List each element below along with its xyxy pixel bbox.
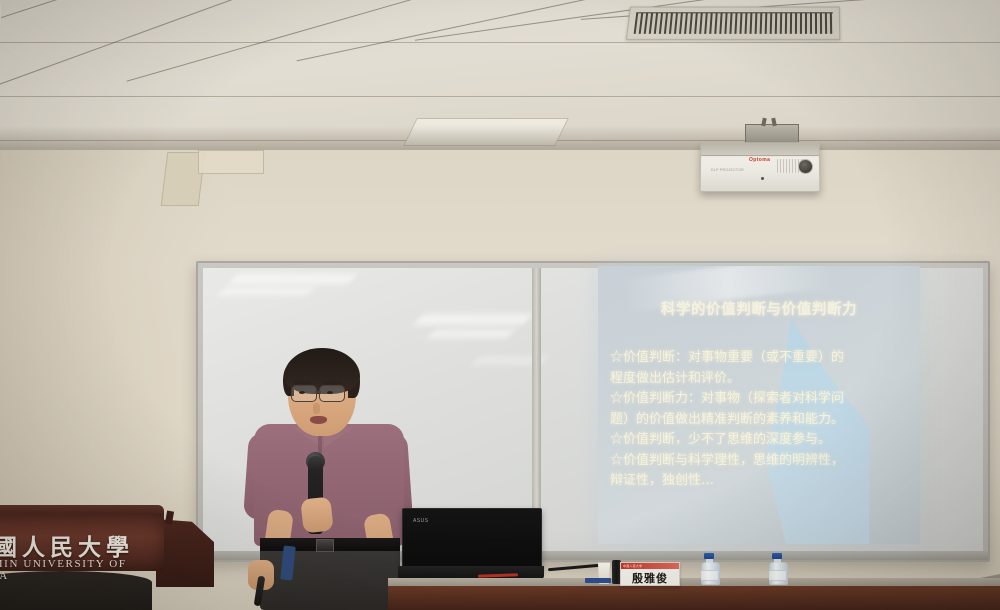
slide-body: ☆价值判断：对事物重要（或不重要）的 程度做出估计和评价。 ☆价值判断力：对事物…: [610, 348, 914, 492]
laptop: ASUS: [398, 508, 544, 580]
front-table: [388, 586, 1000, 610]
projector-lens-icon: [798, 159, 813, 174]
air-vent-icon: [626, 7, 841, 40]
wall-paint-peel: [198, 150, 264, 174]
podium-university-name-en: RENMIN UNIVERSITY OF CHINA: [0, 558, 164, 582]
presenter: [240, 348, 420, 610]
projector-brand-label: Optoma: [749, 157, 770, 163]
ceiling: [0, 0, 1000, 152]
lectern-podium: 中國人民大學 RENMIN UNIVERSITY OF CHINA: [0, 505, 188, 610]
podium-university-name-cn: 中國人民大學: [0, 528, 134, 562]
laptop-screen: ASUS: [402, 508, 542, 572]
bottle-cap-icon: [772, 553, 782, 559]
lecture-hall-scene: Optoma DLP PROJECTOR 科学的价值判断与价值判断力 ☆价值判断…: [0, 0, 1000, 610]
slide-line: ☆价值判断与科学理性，思维的明辨性，: [610, 451, 914, 472]
slide-line: 辩证性，独创性…: [610, 471, 914, 492]
slide-line: ☆价值判断：对事物重要（或不重要）的: [610, 348, 914, 369]
nameplate-band-label: 中国人民大学: [623, 564, 642, 568]
water-bottle: [768, 553, 786, 583]
projected-slide: 科学的价值判断与价值判断力 ☆价值判断：对事物重要（或不重要）的 程度做出估计和…: [598, 266, 920, 544]
desk-nameplate: 中国人民大学 殷雅俊: [620, 562, 680, 586]
water-bottle: [700, 553, 718, 583]
nameplate-band: 中国人民大学: [621, 563, 679, 569]
laptop-brand-label: ASUS: [413, 518, 429, 524]
ceiling-projector: Optoma DLP PROJECTOR: [700, 142, 821, 192]
belt-buckle-icon: [316, 539, 334, 552]
nameplate-speaker-name: 殷雅俊: [621, 570, 679, 586]
slide-line: 程度做出估计和评价。: [610, 369, 914, 390]
bottle-cap-icon: [704, 553, 714, 559]
slide-line: ☆价值判断，少不了思维的深度参与。: [610, 430, 914, 451]
slide-line: ☆价值判断力：对事物（探索者对科学问: [610, 389, 914, 410]
desk-item: [585, 578, 611, 583]
slide-title: 科学的价值判断与价值判断力: [598, 298, 920, 319]
projector-sub-label: DLP PROJECTOR: [711, 168, 744, 172]
slide-line: 题）的价值做出精准判断的素养和能力。: [610, 410, 914, 431]
